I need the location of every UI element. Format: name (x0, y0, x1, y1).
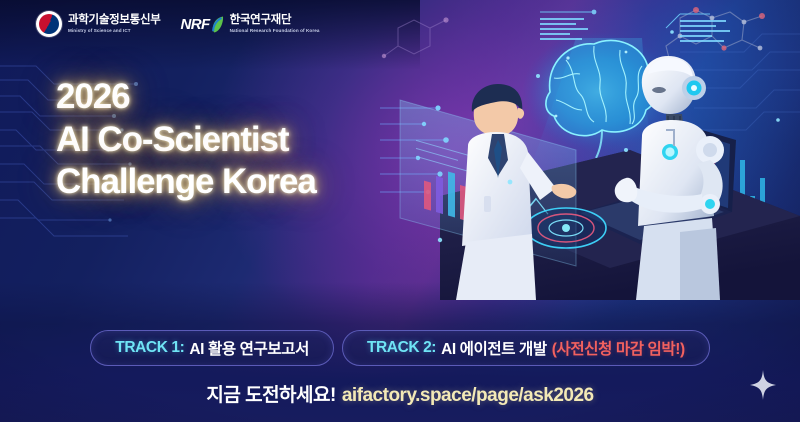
logo-nrf-name-ko: 한국연구재단 (230, 15, 320, 27)
four-point-star-icon (750, 370, 776, 400)
korea-taeguk-icon (36, 11, 62, 37)
logo-nrf: NRF 한국연구재단 National Research Foundation … (181, 15, 320, 34)
title-line-region: Challenge Korea (56, 161, 316, 204)
track-pill-group: TRACK 1: AI 활용 연구보고서 TRACK 2: AI 에이전트 개발… (0, 330, 800, 366)
track-1-label: TRACK 1: (115, 339, 184, 357)
hero-illustration (380, 0, 800, 300)
logo-ministry-name-ko: 과학기술정보통신부 (68, 15, 161, 27)
nrf-leaf-icon (211, 16, 224, 33)
nrf-mark-text: NRF (181, 16, 210, 33)
logo-ministry-of-science-ict: 과학기술정보통신부 Ministry of Science and ICT (36, 11, 161, 37)
track-2-title: AI 에이전트 개발 (441, 337, 547, 359)
title-line-year: 2026 (56, 76, 316, 119)
nrf-wordmark: NRF (181, 16, 224, 33)
logo-ministry-name-en: Ministry of Science and ICT (68, 29, 161, 34)
header-logos: 과학기술정보통신부 Ministry of Science and ICT NR… (36, 11, 320, 37)
promo-poster: 과학기술정보통신부 Ministry of Science and ICT NR… (0, 0, 800, 422)
title-line-program: AI Co-Scientist (56, 119, 316, 162)
track-2-pill[interactable]: TRACK 2: AI 에이전트 개발 (사전신청 마감 임박!) (342, 330, 710, 366)
logo-nrf-name-en: National Research Foundation of Korea (230, 29, 320, 34)
track-2-alert: (사전신청 마감 임박!) (552, 337, 685, 359)
cta-text: 지금 도전하세요! (206, 385, 335, 406)
call-to-action: 지금 도전하세요!aifactory.space/page/ask2026 (0, 380, 800, 407)
page-title: 2026 AI Co-Scientist Challenge Korea (56, 76, 316, 204)
cta-url[interactable]: aifactory.space/page/ask2026 (342, 385, 594, 406)
track-1-pill[interactable]: TRACK 1: AI 활용 연구보고서 (90, 330, 334, 366)
track-2-label: TRACK 2: (367, 339, 436, 357)
track-1-title: AI 활용 연구보고서 (189, 337, 309, 359)
